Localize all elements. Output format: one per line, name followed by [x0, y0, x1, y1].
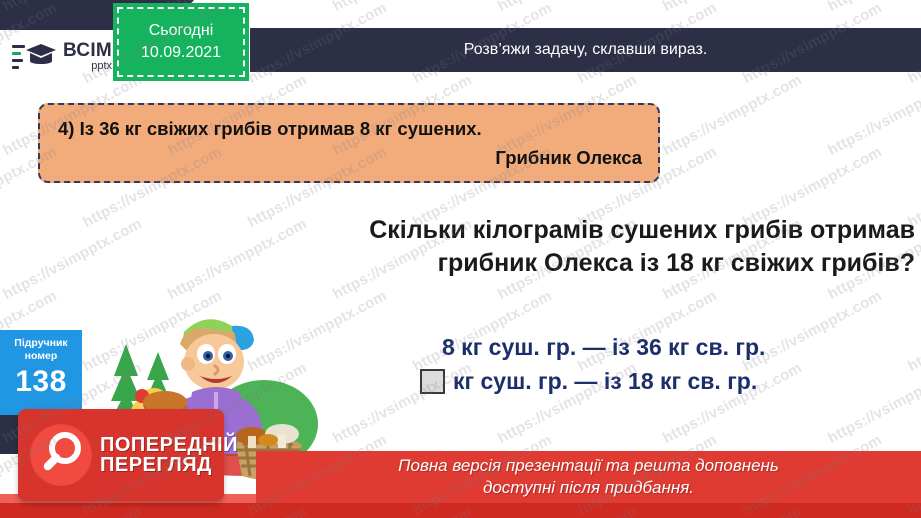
page-title: Розв’яжи задачу, склавши вираз. — [464, 41, 708, 59]
equation-row-1-text: 8 кг суш. гр. — із 36 кг св. гр. — [442, 334, 765, 361]
watermark-text: https://vsimpptx.com — [825, 71, 921, 159]
watermark-text: https://vsimpptx.com — [660, 71, 805, 159]
slide-canvas: ВСІМ pptx Сьогодні 10.09.2021 Розв’яжи з… — [0, 0, 921, 518]
equation-row-2: кг суш. гр. — із 18 кг св. гр. — [420, 364, 900, 398]
date-badge-label: Сьогодні — [149, 22, 214, 40]
equation-row-1: 8 кг суш. гр. — із 36 кг св. гр. — [420, 330, 900, 364]
textbook-number: 138 — [0, 365, 82, 399]
preview-badge[interactable]: ПОПЕРЕДНІЙ ПЕРЕГЛЯД — [18, 409, 224, 501]
task-line-2: Грибник Олекса — [58, 147, 642, 169]
preview-badge-line-1: ПОПЕРЕДНІЙ — [100, 435, 238, 455]
watermark-text: https://vsimpptx.com — [660, 0, 805, 15]
textbook-number-panel: Підручник номер 138 — [0, 330, 82, 415]
purchase-banner-line-2: доступні після придбання. — [483, 477, 694, 499]
watermark-text: https://vsimpptx.com — [0, 215, 145, 303]
date-badge-value: 10.09.2021 — [141, 44, 221, 62]
watermark-text: https://vsimpptx.com — [330, 0, 475, 15]
logo-subtitle: pptx — [63, 61, 112, 72]
equation-row-2-text: кг суш. гр. — із 18 кг св. гр. — [453, 368, 757, 395]
textbook-label-1: Підручник — [0, 337, 82, 350]
textbook-label-2: номер — [0, 350, 82, 363]
banner-dark-strip — [0, 503, 921, 518]
answer-placeholder-box[interactable] — [420, 369, 445, 394]
watermark-text: https://vsimpptx.com — [825, 0, 921, 15]
question-text: Скільки кілограмів сушених грибів отрима… — [150, 214, 915, 280]
task-line-1: 4) Із 36 кг свіжих грибів отримав 8 кг с… — [58, 118, 642, 140]
watermark-text: https://vsimpptx.com — [905, 287, 921, 375]
question-line-2: грибник Олекса із 18 кг свіжих грибів? — [150, 247, 915, 280]
question-line-1: Скільки кілограмів сушених грибів отрима… — [150, 214, 915, 247]
graduation-cap-icon — [12, 39, 58, 73]
logo-title: ВСІМ — [63, 41, 112, 60]
watermark-text: https://vsimpptx.com — [495, 0, 640, 15]
preview-badge-line-2: ПЕРЕГЛЯД — [100, 455, 238, 475]
header-bar: Розв’яжи задачу, склавши вираз. — [250, 28, 921, 72]
purchase-banner: Повна версія презентації та решта доповн… — [256, 451, 921, 503]
purchase-banner-line-1: Повна версія презентації та решта доповн… — [398, 455, 779, 477]
equation-list: 8 кг суш. гр. — із 36 кг св. гр. кг суш.… — [420, 330, 900, 398]
task-statement-box: 4) Із 36 кг свіжих грибів отримав 8 кг с… — [38, 103, 660, 183]
magnifier-icon — [30, 424, 92, 486]
date-badge: Сьогодні 10.09.2021 — [113, 3, 249, 81]
